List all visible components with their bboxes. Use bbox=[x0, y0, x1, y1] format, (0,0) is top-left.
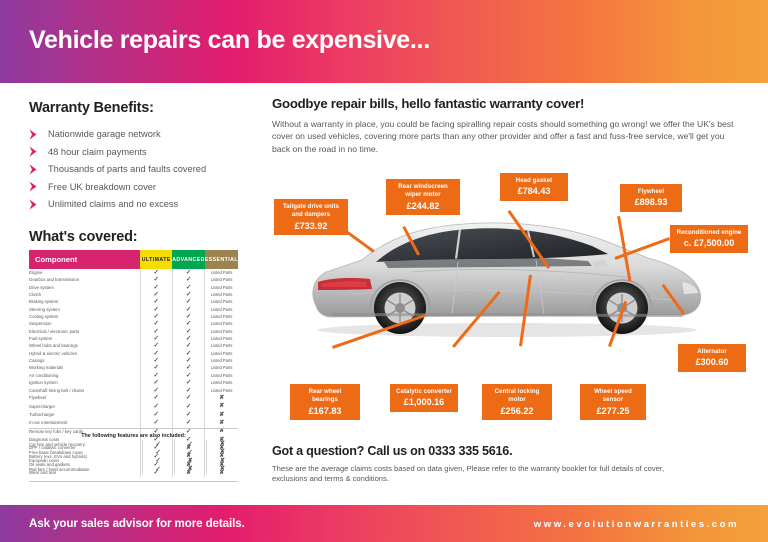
callout-tailgate-drive-units[interactable]: Tailgate drive units and dampers £733.92 bbox=[274, 199, 348, 235]
extra-name: Car hire and vehicle recovery bbox=[29, 440, 142, 448]
callout-label: Alternator bbox=[684, 348, 740, 356]
callout-price: £1,000.16 bbox=[396, 398, 452, 406]
cell-advanced: ✓ bbox=[172, 335, 205, 342]
cell-advanced: ✓ bbox=[172, 387, 205, 394]
callout-label: Wheel speed sensor bbox=[586, 388, 640, 405]
cell-advanced: ✓ bbox=[172, 394, 205, 402]
table-row: Suspension✓✓Listed Parts bbox=[29, 320, 238, 327]
cell-essential: ✘ bbox=[205, 411, 238, 419]
callout-central-locking-motor[interactable]: Central locking motor £256.22 bbox=[482, 384, 552, 420]
callout-rear-wheel-bearings[interactable]: Rear wheel bearings £167.83 bbox=[290, 384, 360, 420]
cell-essential: ✘ bbox=[205, 402, 238, 410]
cell-essential: ✘ bbox=[206, 457, 238, 465]
callout-label: Rear windscreen wiper motor bbox=[392, 183, 454, 200]
component-name: Camshaft timing belt / chains bbox=[29, 387, 140, 394]
cell-essential: Listed Parts bbox=[205, 298, 238, 305]
callout-reconditioned-engine[interactable]: Reconditioned engine c. £7,500.00 bbox=[670, 225, 748, 253]
component-name: Gearbox and transmission bbox=[29, 276, 140, 283]
cell-advanced: ✘ bbox=[174, 465, 206, 473]
callout-label: Tailgate drive units and dampers bbox=[280, 203, 342, 220]
component-name: In-car entertainment bbox=[29, 419, 140, 427]
benefit-label: Thousands of parts and faults covered bbox=[48, 164, 206, 174]
cell-advanced: ✓ bbox=[172, 411, 205, 419]
cell-advanced: ✓ bbox=[172, 372, 205, 379]
chevron-right-icon bbox=[29, 181, 39, 192]
table-row: Cooling system✓✓Listed Parts bbox=[29, 313, 238, 320]
cell-advanced: ✓ bbox=[172, 313, 205, 320]
header-banner: Vehicle repairs can be expensive... bbox=[0, 0, 768, 83]
component-name: Electrical / electronic parts bbox=[29, 328, 140, 335]
cell-ultimate: ✓ bbox=[140, 402, 172, 410]
cell-advanced: ✓ bbox=[174, 440, 206, 448]
benefit-item: 48 hour claim payments bbox=[29, 144, 244, 161]
cell-ultimate: ✓ bbox=[140, 387, 172, 394]
col-header-ultimate: ULTIMATE bbox=[140, 250, 172, 269]
table-row: Fuel system✓✓Listed Parts bbox=[29, 335, 238, 342]
cell-essential: Listed Parts bbox=[205, 379, 238, 386]
callout-price: £256.22 bbox=[488, 407, 546, 415]
col-header-essential: ESSENTIAL bbox=[205, 250, 238, 269]
component-name: Hybrid & electric vehicles bbox=[29, 350, 140, 357]
component-name: Turbocharger bbox=[29, 411, 140, 419]
callout-wheel-speed-sensor[interactable]: Wheel speed sensor £277.25 bbox=[580, 384, 646, 420]
component-name: Casings bbox=[29, 357, 140, 364]
cell-advanced: ✓ bbox=[172, 298, 205, 305]
cell-essential: Listed Parts bbox=[205, 342, 238, 349]
component-name: Clutch bbox=[29, 291, 140, 298]
callout-label: Flywheel bbox=[626, 188, 676, 196]
cell-ultimate: ✓ bbox=[140, 328, 172, 335]
footer-cta: Ask your sales advisor for more details. bbox=[29, 517, 245, 530]
cell-advanced: ✓ bbox=[172, 379, 205, 386]
cell-essential: ✘ bbox=[205, 394, 238, 402]
cell-advanced: ✘ bbox=[174, 457, 206, 465]
callout-rear-windscreen-wiper-motor[interactable]: Rear windscreen wiper motor £244.82 bbox=[386, 179, 460, 215]
cell-advanced: ✓ bbox=[172, 320, 205, 327]
cell-ultimate: ✓ bbox=[142, 440, 174, 448]
component-name: Ignition system bbox=[29, 379, 140, 386]
section-heading: Goodbye repair bills, hello fantastic wa… bbox=[272, 96, 744, 111]
extra-name: Rail fare / hotel accommodation bbox=[29, 465, 142, 473]
table-row: Gearbox and transmission✓✓Listed Parts bbox=[29, 276, 238, 283]
chevron-right-icon bbox=[29, 146, 39, 157]
callout-label: Catalytic converter bbox=[396, 388, 452, 396]
cell-ultimate: ✓ bbox=[140, 411, 172, 419]
table-row: In-car entertainment✓✓✘ bbox=[29, 419, 238, 427]
cell-essential: ✘ bbox=[206, 448, 238, 456]
callout-alternator[interactable]: Alternator £300.60 bbox=[678, 344, 746, 372]
cell-essential: Listed Parts bbox=[205, 291, 238, 298]
extras-table: Car hire and vehicle recovery✓✓✘Free bas… bbox=[29, 440, 238, 474]
cell-advanced: ✓ bbox=[172, 291, 205, 298]
callout-price: £244.82 bbox=[392, 202, 454, 210]
cell-advanced: ✓ bbox=[172, 350, 205, 357]
cell-essential: Listed Parts bbox=[205, 320, 238, 327]
table-row: Hybrid & electric vehicles✓✓Listed Parts bbox=[29, 350, 238, 357]
cell-essential: Listed Parts bbox=[205, 357, 238, 364]
cell-essential: ✘ bbox=[205, 419, 238, 427]
footer-banner: Ask your sales advisor for more details.… bbox=[0, 505, 768, 542]
cell-advanced: ✓ bbox=[172, 402, 205, 410]
callout-price: £277.25 bbox=[586, 407, 640, 415]
cell-advanced: ✓ bbox=[172, 284, 205, 291]
contact-title: Got a question? Call us on 0333 335 5616… bbox=[272, 444, 692, 458]
cell-ultimate: ✓ bbox=[140, 350, 172, 357]
cell-essential: Listed Parts bbox=[205, 276, 238, 283]
cell-essential: Listed Parts bbox=[205, 364, 238, 371]
cell-ultimate: ✓ bbox=[140, 320, 172, 327]
cell-essential: ✘ bbox=[206, 440, 238, 448]
benefit-label: 48 hour claim payments bbox=[48, 147, 147, 157]
table-row: Ignition system✓✓Listed Parts bbox=[29, 379, 238, 386]
whats-covered-title: What's covered: bbox=[29, 229, 244, 245]
cell-ultimate: ✓ bbox=[142, 448, 174, 456]
extra-name: Free basic breakdown cover bbox=[29, 448, 142, 456]
cell-essential: Listed Parts bbox=[205, 350, 238, 357]
cell-essential: ✘ bbox=[206, 465, 238, 473]
cell-ultimate: ✓ bbox=[140, 372, 172, 379]
callout-price: £784.43 bbox=[506, 187, 562, 195]
table-row: Clutch✓✓Listed Parts bbox=[29, 291, 238, 298]
right-column: Goodbye repair bills, hello fantastic wa… bbox=[272, 96, 744, 155]
component-name: Supercharger bbox=[29, 402, 140, 410]
component-name: Engine bbox=[29, 269, 140, 276]
component-name: Drive system bbox=[29, 284, 140, 291]
component-name: Flywheel bbox=[29, 394, 140, 402]
component-name: Fuel system bbox=[29, 335, 140, 342]
cell-essential: Listed Parts bbox=[205, 335, 238, 342]
callout-price: £898.93 bbox=[626, 198, 676, 206]
benefit-item: Thousands of parts and faults covered bbox=[29, 161, 244, 178]
callout-label: Reconditioned engine bbox=[676, 229, 742, 237]
table-header-row: Component ULTIMATE ADVANCED ESSENTIAL bbox=[29, 250, 238, 269]
table-row: Air conditioning✓✓Listed Parts bbox=[29, 372, 238, 379]
cell-ultimate: ✓ bbox=[140, 357, 172, 364]
poster-page: Vehicle repairs can be expensive... Warr… bbox=[0, 0, 768, 542]
cell-essential: Listed Parts bbox=[205, 306, 238, 313]
component-name: Braking system bbox=[29, 298, 140, 305]
extra-name: European cover bbox=[29, 457, 142, 465]
car-diagram: Tailgate drive units and dampers £733.92… bbox=[272, 168, 762, 433]
callout-price: £167.83 bbox=[296, 407, 354, 415]
table-row: Wheel hubs and bearings✓✓Listed Parts bbox=[29, 342, 238, 349]
contact-subtitle: These are the average claims costs based… bbox=[272, 464, 692, 485]
component-name: Working materials bbox=[29, 364, 140, 371]
table-row: Camshaft timing belt / chains✓✓Listed Pa… bbox=[29, 387, 238, 394]
cell-advanced: ✓ bbox=[172, 419, 205, 427]
cell-ultimate: ✓ bbox=[140, 364, 172, 371]
table-row: Casings✓✓Listed Parts bbox=[29, 357, 238, 364]
cell-essential: Listed Parts bbox=[205, 328, 238, 335]
cell-ultimate: ✓ bbox=[140, 379, 172, 386]
contact-block: Got a question? Call us on 0333 335 5616… bbox=[272, 444, 692, 485]
cell-advanced: ✓ bbox=[174, 448, 206, 456]
component-name: Air conditioning bbox=[29, 372, 140, 379]
table-row: Steering system✓✓Listed Parts bbox=[29, 306, 238, 313]
benefit-item: Free UK breakdown cover bbox=[29, 179, 244, 196]
table-row: Working materials✓✓Listed Parts bbox=[29, 364, 238, 371]
coverage-table-head: Component ULTIMATE ADVANCED ESSENTIAL bbox=[29, 250, 238, 269]
cell-ultimate: ✓ bbox=[142, 465, 174, 473]
cell-advanced: ✓ bbox=[172, 364, 205, 371]
table-row: Drive system✓✓Listed Parts bbox=[29, 284, 238, 291]
cell-essential: Listed Parts bbox=[205, 269, 238, 276]
chevron-right-icon bbox=[29, 199, 39, 210]
table-row: Flywheel✓✓✘ bbox=[29, 394, 238, 402]
cell-ultimate: ✓ bbox=[140, 284, 172, 291]
extras-row: European cover✓✘✘ bbox=[29, 457, 238, 465]
table-row: Supercharger✓✓✘ bbox=[29, 402, 238, 410]
callout-label: Central locking motor bbox=[488, 388, 546, 405]
extras-row: Car hire and vehicle recovery✓✓✘ bbox=[29, 440, 238, 448]
cell-advanced: ✓ bbox=[172, 357, 205, 364]
footer-website[interactable]: www.evolutionwarranties.com bbox=[534, 519, 739, 530]
benefit-label: Free UK breakdown cover bbox=[48, 182, 156, 192]
cell-ultimate: ✓ bbox=[142, 457, 174, 465]
cell-advanced: ✓ bbox=[172, 342, 205, 349]
callout-catalytic-converter[interactable]: Catalytic converter £1,000.16 bbox=[390, 384, 458, 412]
cell-ultimate: ✓ bbox=[140, 298, 172, 305]
cell-ultimate: ✓ bbox=[140, 269, 172, 276]
table-row: Braking system✓✓Listed Parts bbox=[29, 298, 238, 305]
col-header-advanced: ADVANCED bbox=[172, 250, 205, 269]
benefit-item: Unlimited claims and no excess bbox=[29, 196, 244, 213]
cell-ultimate: ✓ bbox=[140, 394, 172, 402]
benefits-list: Nationwide garage network48 hour claim p… bbox=[29, 126, 244, 213]
chevron-right-icon bbox=[29, 129, 39, 140]
cell-advanced: ✓ bbox=[172, 276, 205, 283]
extras-table-body: Car hire and vehicle recovery✓✓✘Free bas… bbox=[29, 440, 238, 474]
component-name: Cooling system bbox=[29, 313, 140, 320]
extras-title: The following features are also included… bbox=[29, 428, 238, 439]
col-header-component: Component bbox=[29, 250, 140, 269]
cell-ultimate: ✓ bbox=[140, 306, 172, 313]
page-title: Vehicle repairs can be expensive... bbox=[29, 26, 430, 55]
cell-ultimate: ✓ bbox=[140, 276, 172, 283]
cell-ultimate: ✓ bbox=[140, 419, 172, 427]
cell-essential: Listed Parts bbox=[205, 284, 238, 291]
component-name: Suspension bbox=[29, 320, 140, 327]
callout-price: £300.60 bbox=[684, 358, 740, 366]
cell-advanced: ✓ bbox=[172, 306, 205, 313]
left-column: Warranty Benefits: Nationwide garage net… bbox=[29, 100, 244, 245]
cell-ultimate: ✓ bbox=[140, 291, 172, 298]
table-row: Turbocharger✓✓✘ bbox=[29, 411, 238, 419]
callout-label: Head gasket bbox=[506, 177, 562, 185]
table-row: Engine✓✓Listed Parts bbox=[29, 269, 238, 276]
callout-price: £733.92 bbox=[280, 222, 342, 230]
callout-label: Rear wheel bearings bbox=[296, 388, 354, 405]
extras-row: Free basic breakdown cover✓✓✘ bbox=[29, 448, 238, 456]
table-bottom-rule bbox=[29, 481, 238, 482]
component-name: Steering system bbox=[29, 306, 140, 313]
cell-essential: Listed Parts bbox=[205, 372, 238, 379]
callout-flywheel[interactable]: Flywheel £898.93 bbox=[620, 184, 682, 212]
cell-advanced: ✓ bbox=[172, 328, 205, 335]
benefit-label: Unlimited claims and no excess bbox=[48, 199, 178, 209]
callout-head-gasket[interactable]: Head gasket £784.43 bbox=[500, 173, 568, 201]
extras-row: Rail fare / hotel accommodation✓✘✘ bbox=[29, 465, 238, 473]
cell-ultimate: ✓ bbox=[140, 313, 172, 320]
table-row: Electrical / electronic parts✓✓Listed Pa… bbox=[29, 328, 238, 335]
callout-price: c. £7,500.00 bbox=[676, 239, 742, 247]
benefit-label: Nationwide garage network bbox=[48, 129, 161, 139]
chevron-right-icon bbox=[29, 164, 39, 175]
cell-essential: Listed Parts bbox=[205, 387, 238, 394]
component-name: Wheel hubs and bearings bbox=[29, 342, 140, 349]
cell-essential: Listed Parts bbox=[205, 313, 238, 320]
benefit-item: Nationwide garage network bbox=[29, 126, 244, 143]
cell-ultimate: ✓ bbox=[140, 342, 172, 349]
warranty-benefits-title: Warranty Benefits: bbox=[29, 100, 244, 116]
cell-ultimate: ✓ bbox=[140, 335, 172, 342]
cell-advanced: ✓ bbox=[172, 269, 205, 276]
section-paragraph: Without a warranty in place, you could b… bbox=[272, 118, 744, 155]
car-illustration bbox=[292, 210, 712, 345]
